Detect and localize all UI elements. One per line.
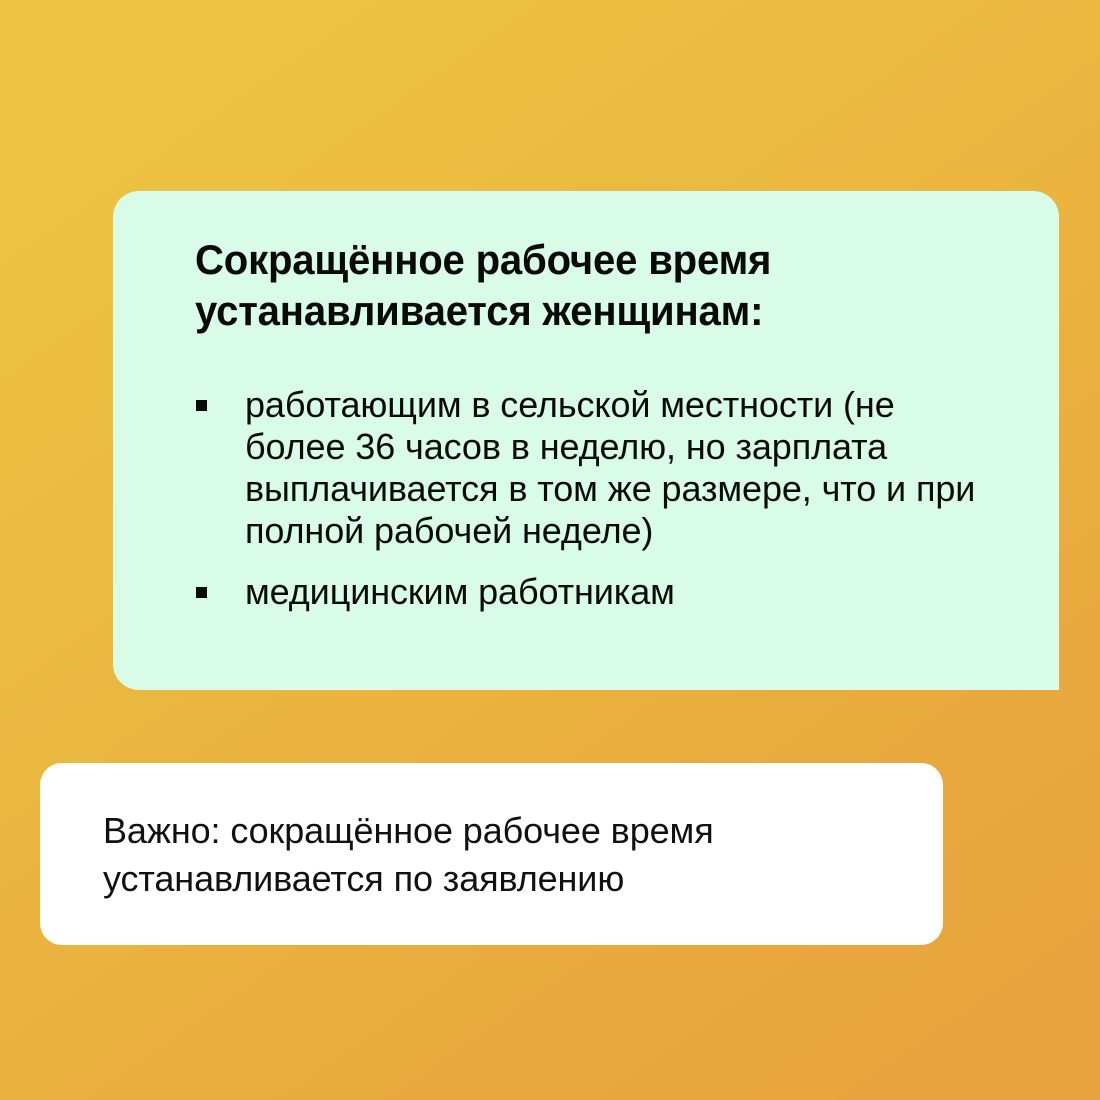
mint-info-card: Сокращённое рабочее время устанавливаетс… bbox=[113, 191, 1059, 690]
conditions-list: работающим в сельской местности (не боле… bbox=[196, 384, 996, 613]
slide-canvas: Сокращённое рабочее время устанавливаетс… bbox=[0, 0, 1100, 1100]
list-item: работающим в сельской местности (не боле… bbox=[196, 384, 996, 552]
important-note-card: Важно: сокращённое рабочее время устанав… bbox=[40, 763, 943, 945]
list-item-label: работающим в сельской местности (не боле… bbox=[245, 384, 996, 552]
list-item-label: медицинским работникам bbox=[245, 571, 996, 613]
square-bullet-icon bbox=[196, 587, 207, 598]
page-title: Сокращённое рабочее время устанавливаетс… bbox=[195, 234, 940, 336]
square-bullet-icon bbox=[196, 400, 207, 411]
list-item: медицинским работникам bbox=[196, 571, 996, 613]
important-note-text: Важно: сокращённое рабочее время устанав… bbox=[103, 807, 913, 903]
